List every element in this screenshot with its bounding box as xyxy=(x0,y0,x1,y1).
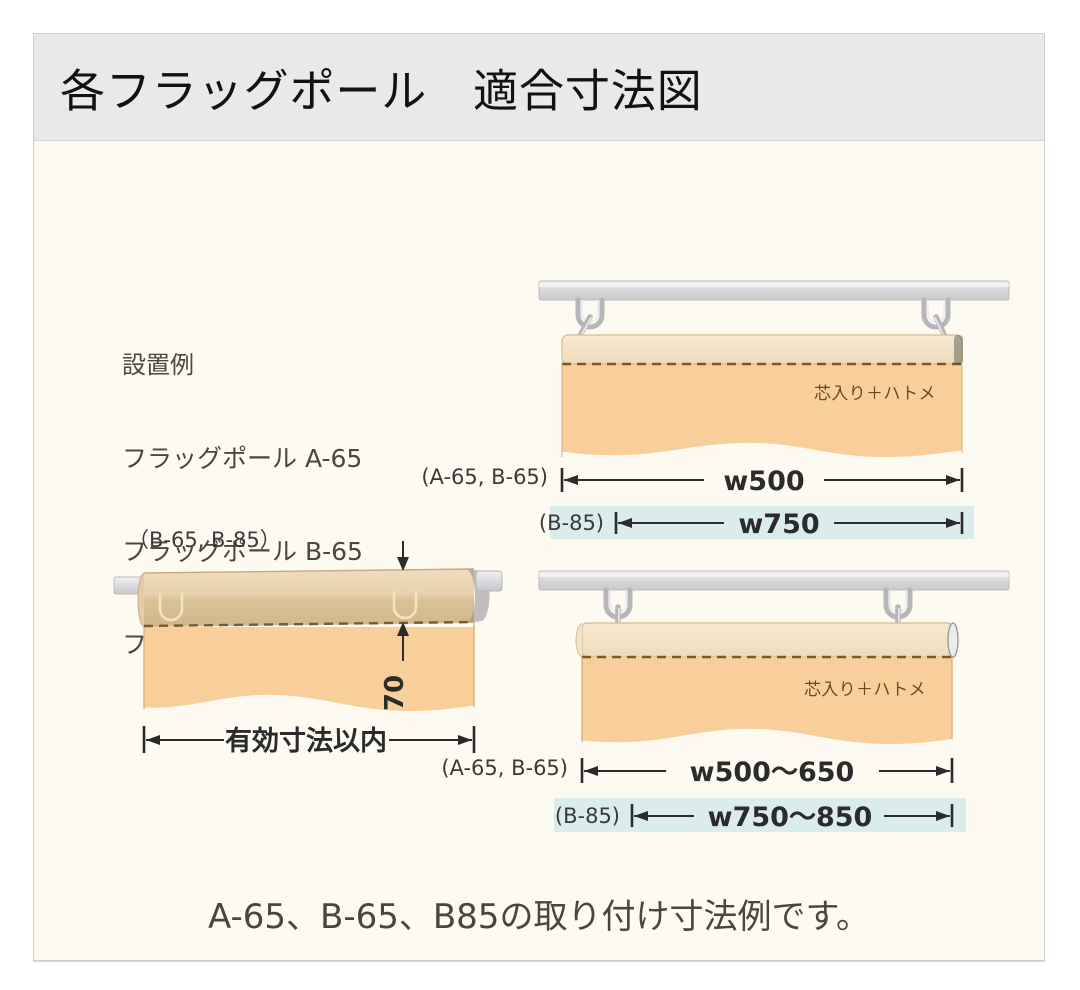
dimension-model-label: (A-65, B-65) xyxy=(421,465,548,489)
diagram-card: 各フラッグポール 適合寸法図 設置例 フラッグポール A-65 フラッグポール … xyxy=(33,33,1045,961)
vertical-dimension-70: 70 xyxy=(380,541,410,711)
mounting-pole xyxy=(539,281,1009,300)
vertical-dimension-value: 70 xyxy=(380,675,410,711)
diagram-top-right: 芯入り＋ハトメ (A-65, B-65) w500 xyxy=(524,271,1024,541)
sleeve-flag-panel xyxy=(138,569,474,719)
card-header: 各フラッグポール 適合寸法図 xyxy=(34,34,1044,141)
diagram-page: 各フラッグポール 適合寸法図 設置例 フラッグポール A-65 フラッグポール … xyxy=(0,0,1080,990)
dimension-value: w750 xyxy=(738,509,819,540)
dimension-value: w750〜850 xyxy=(708,802,873,833)
horizontal-dimension-effective: 有効寸法以内 xyxy=(144,726,474,757)
dimension-row-a65-b65: (A-65, B-65) w500 xyxy=(421,465,962,497)
diagram-left: （B-65, B-85） 70 xyxy=(114,521,554,791)
horizontal-dimension-value: 有効寸法以内 xyxy=(225,726,387,757)
flag-panel xyxy=(562,335,963,484)
page-title: 各フラッグポール 適合寸法図 xyxy=(60,55,703,120)
dimension-value: w500 xyxy=(723,466,804,497)
dimension-model-label: (B-85) xyxy=(555,804,620,828)
dimension-row-b85: (B-85) w750〜850 xyxy=(554,798,966,833)
legend-heading: 設置例 xyxy=(122,350,363,381)
diagram-caption: A-65、B-65、B85の取り付け寸法例です。 xyxy=(34,889,1044,938)
dimension-row-a65-b65: (A-65, B-65) w500〜650 xyxy=(441,756,952,788)
flag-note-label: 芯入り＋ハトメ xyxy=(814,384,936,404)
flag-note-label: 芯入り＋ハトメ xyxy=(804,680,926,700)
diagram-model-label: （B-65, B-85） xyxy=(128,528,281,552)
diagram-bottom-right: 芯入り＋ハトメ (A-65, B-65) w500〜650 xyxy=(494,561,1034,841)
dimension-row-b85: (B-85) w750 xyxy=(539,506,974,540)
rod-end-cap-right xyxy=(948,623,958,657)
dimension-model-label: (A-65, B-65) xyxy=(441,756,568,780)
dimension-value: w500〜650 xyxy=(690,757,855,788)
mounting-pole xyxy=(539,571,1009,590)
card-body: 設置例 フラッグポール A-65 フラッグポール B-65 フラッグポール B-… xyxy=(34,141,1044,961)
legend-item-a65: フラッグポール A-65 xyxy=(122,443,363,474)
